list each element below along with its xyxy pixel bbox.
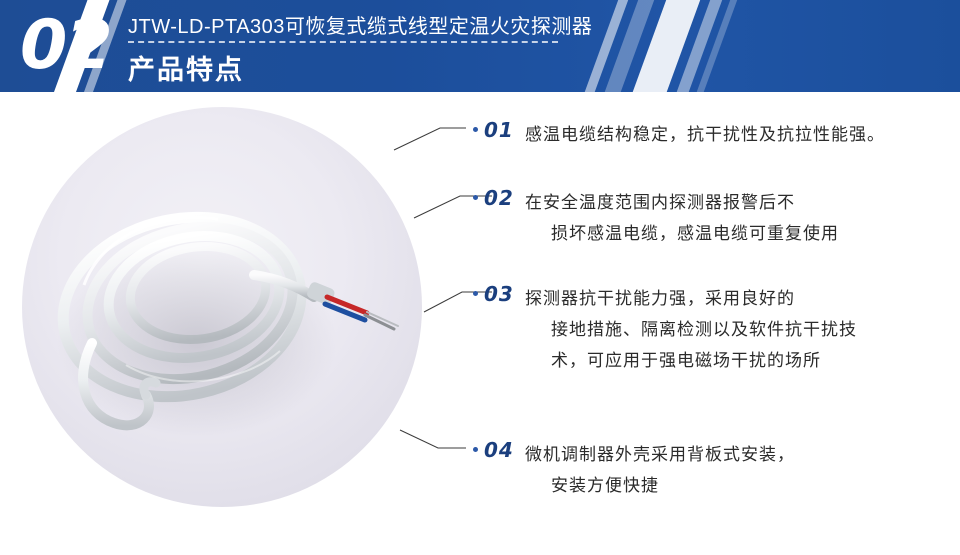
header-dashed-divider: [128, 41, 558, 44]
feature-text: 感温电缆结构稳定，抗干扰性及抗拉性能强。: [525, 119, 945, 150]
feature-bullet-icon: [473, 127, 478, 132]
feature-bullet-icon: [473, 447, 478, 452]
feature-line: 接地措施、隔离检测以及软件抗干扰技: [525, 314, 945, 345]
feature-number: 01: [484, 118, 514, 142]
feature-line: 感温电缆结构稳定，抗干扰性及抗拉性能强。: [525, 119, 945, 150]
feature-text: 微机调制器外壳采用背板式安装， 安装方便快捷: [525, 439, 945, 501]
section-number: 02: [20, 6, 111, 86]
page-header: 02 JTW-LD-PTA303可恢复式缆式线型定温火灾探测器 产品特点: [0, 0, 960, 92]
feature-list: 01 感温电缆结构稳定，抗干扰性及抗拉性能强。 02 在安全温度范围内探测器报警…: [455, 100, 955, 540]
feature-number: 03: [484, 282, 514, 306]
feature-line: 探测器抗干扰能力强，采用良好的: [525, 283, 945, 314]
header-section-title: 产品特点: [128, 48, 244, 87]
feature-number: 02: [484, 186, 514, 210]
feature-line: 微机调制器外壳采用背板式安装，: [525, 439, 945, 470]
product-image: [22, 107, 422, 507]
section-number-block: 02: [8, 0, 128, 92]
feature-number: 04: [484, 438, 514, 462]
feature-text: 在安全温度范围内探测器报警后不 损坏感温电缆，感温电缆可重复使用: [525, 187, 945, 249]
feature-bullet-icon: [473, 291, 478, 296]
feature-line: 安装方便快捷: [525, 470, 945, 501]
feature-text: 探测器抗干扰能力强，采用良好的 接地措施、隔离检测以及软件抗干扰技 术，可应用于…: [525, 283, 945, 376]
feature-line: 在安全温度范围内探测器报警后不: [525, 187, 945, 218]
feature-line: 损坏感温电缆，感温电缆可重复使用: [525, 218, 945, 249]
heat-sensing-cable-illustration: [22, 107, 422, 507]
feature-line: 术，可应用于强电磁场干扰的场所: [525, 345, 945, 376]
feature-bullet-icon: [473, 195, 478, 200]
header-model-title: JTW-LD-PTA303可恢复式缆式线型定温火灾探测器: [128, 10, 592, 39]
